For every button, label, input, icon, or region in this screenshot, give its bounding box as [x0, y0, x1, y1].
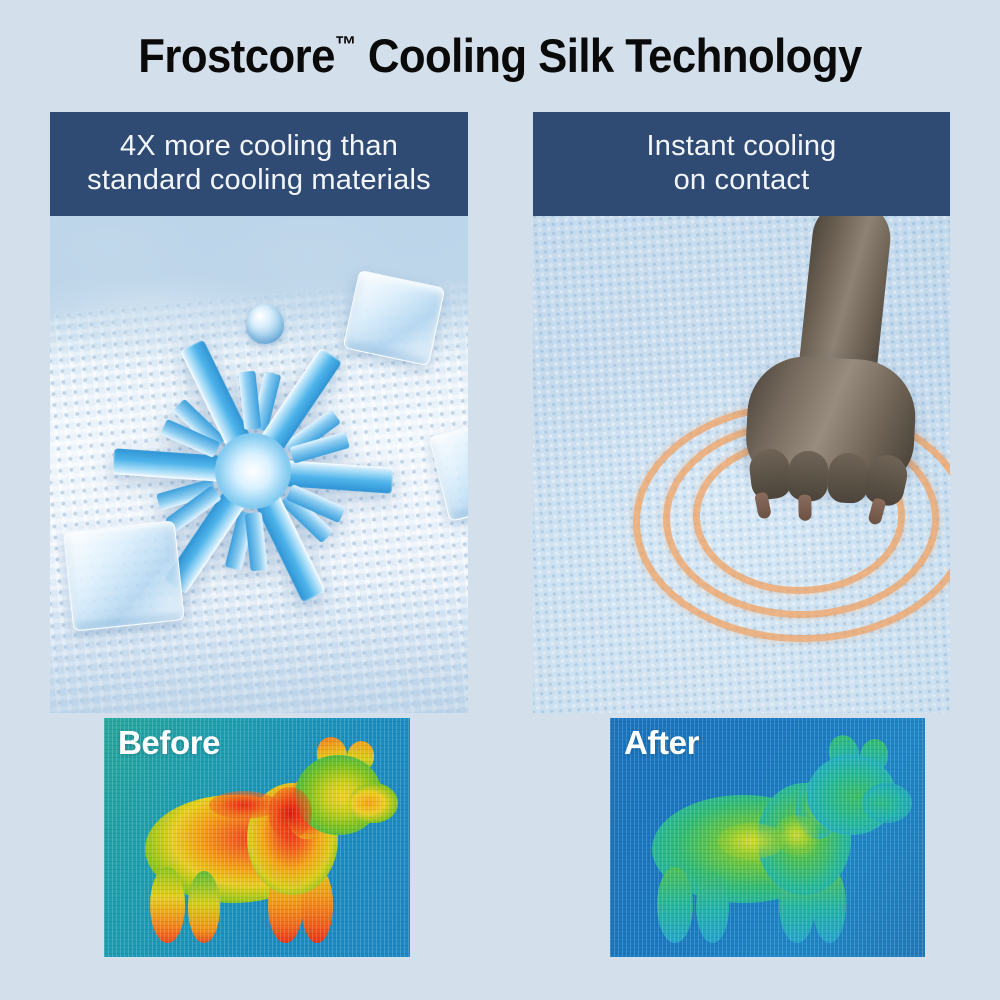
- feature-banner-left-text: 4X more cooling than standard cooling ma…: [87, 130, 431, 198]
- feature-banner-left: 4X more cooling than standard cooling ma…: [50, 112, 468, 216]
- feature-panel-left: 4X more cooling than standard cooling ma…: [50, 112, 468, 713]
- paw-photo: [533, 216, 950, 713]
- feature-panel-right: Instant cooling on contact: [533, 112, 950, 713]
- feature-banner-right-text: Instant cooling on contact: [646, 130, 836, 198]
- thermal-after-label: After: [624, 724, 699, 762]
- page-title-rest: Cooling Silk Technology: [356, 29, 861, 82]
- snowflake-photo: [50, 216, 468, 713]
- thermal-before-label: Before: [118, 724, 220, 762]
- dog-paw-icon: [719, 216, 929, 540]
- feature-banner-right: Instant cooling on contact: [533, 112, 950, 216]
- thermal-image-before: Before: [104, 718, 410, 957]
- trademark-symbol: ™: [335, 31, 356, 57]
- ice-cube-bottom-left-icon: [63, 520, 185, 631]
- dog-paw-pad: [744, 354, 918, 491]
- page-title-brand: Frostcore: [138, 29, 335, 82]
- page-title: Frostcore™ Cooling Silk Technology: [35, 28, 965, 83]
- infographic-canvas: Frostcore™ Cooling Silk Technology 4X mo…: [0, 0, 1000, 1000]
- thermal-image-after: After: [610, 718, 925, 957]
